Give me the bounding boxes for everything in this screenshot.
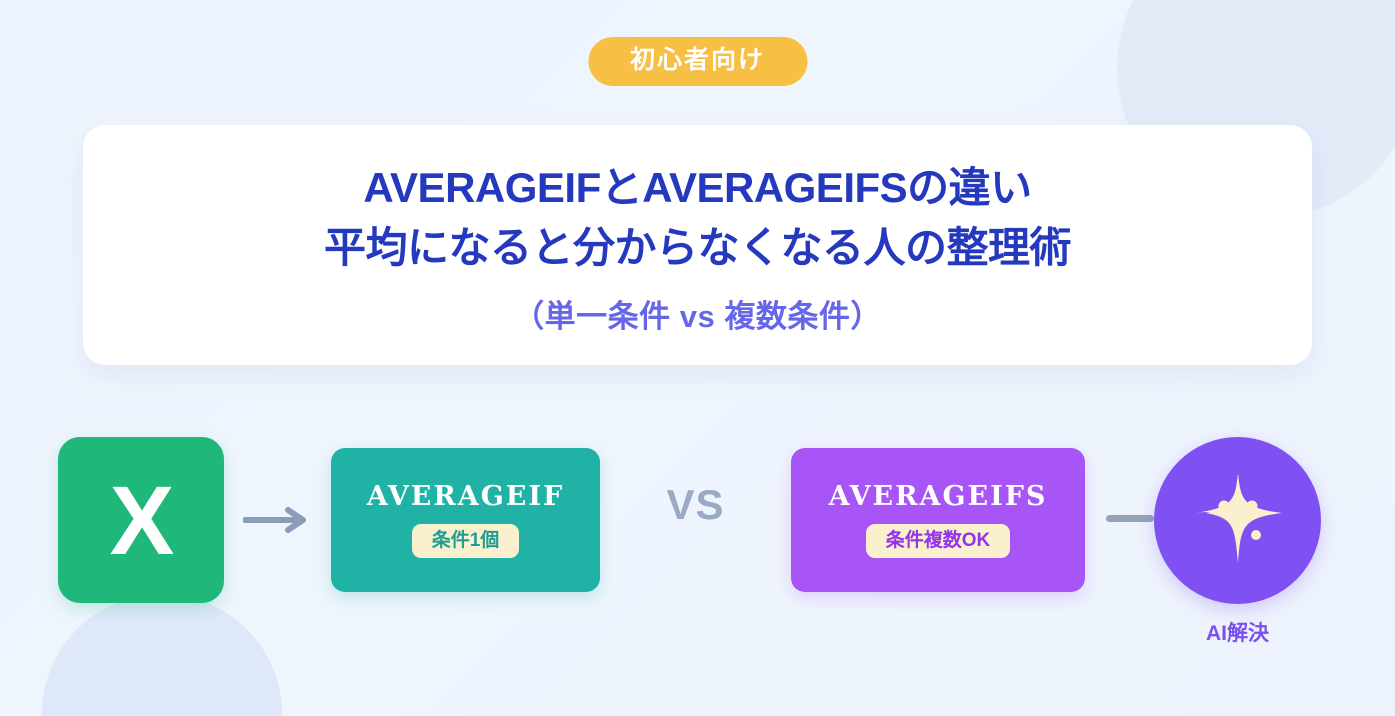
subtitle: （単一条件 vs 複数条件） [513, 291, 882, 336]
title-line-2: 平均になると分からなくなる人の整理術 [324, 218, 1071, 278]
title-line-1: AVERAGEIFとAVERAGEIFSの違い [363, 158, 1031, 218]
function-card-averageif: AVERAGEIF 条件1個 [331, 448, 600, 592]
excel-icon: X [58, 437, 224, 603]
condition-pill-averageifs: 条件複数OK [866, 524, 1011, 558]
condition-pill-averageif: 条件1個 [412, 524, 520, 558]
function-name-averageifs: AVERAGEIFS [829, 483, 1048, 510]
connector-line-icon [1106, 515, 1154, 522]
comparison-diagram: X AVERAGEIF 条件1個 VS AVERAGEIFS 条件複数OK [0, 437, 1395, 667]
function-card-averageifs: AVERAGEIFS 条件複数OK [791, 448, 1085, 592]
arrow-right-icon [243, 507, 311, 533]
sparkle-icon [1186, 466, 1290, 575]
level-badge: 初心者向け [588, 37, 807, 86]
title-card: AVERAGEIFとAVERAGEIFSの違い 平均になると分からなくなる人の整… [83, 125, 1312, 365]
ai-label: AI解決 [1154, 623, 1321, 644]
function-name-averageif: AVERAGEIF [367, 483, 564, 510]
vs-label: VS [600, 484, 791, 526]
ai-badge [1154, 437, 1321, 604]
excel-icon-letter: X [110, 472, 173, 569]
